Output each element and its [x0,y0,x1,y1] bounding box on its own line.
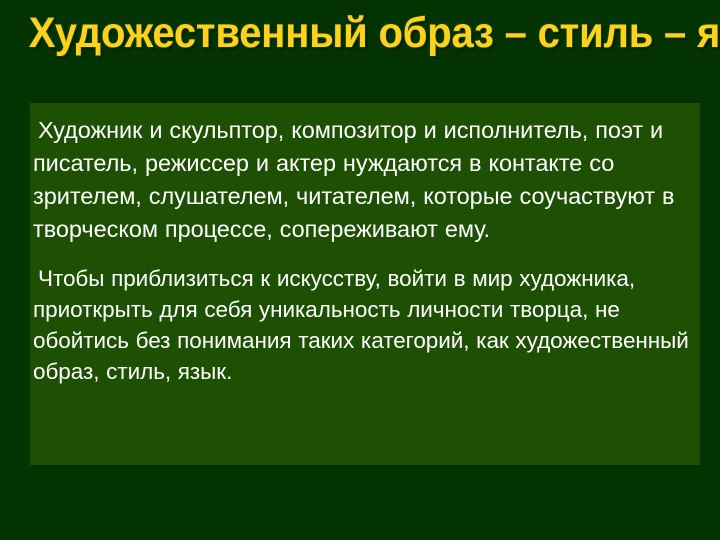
page-title: Художественный образ – стиль – язык [29,12,720,55]
body-paragraph-2: Чтобы приблизиться к искусству, войти в … [33,263,690,387]
content-panel: Художник и скульптор, композитор и испол… [30,103,700,465]
slide-title-block: Художественный образ – стиль – язык [0,12,720,55]
body-paragraph-1: Художник и скульптор, композитор и испол… [33,114,690,246]
presentation-slide: Художественный образ – стиль – язык Худо… [0,0,720,540]
